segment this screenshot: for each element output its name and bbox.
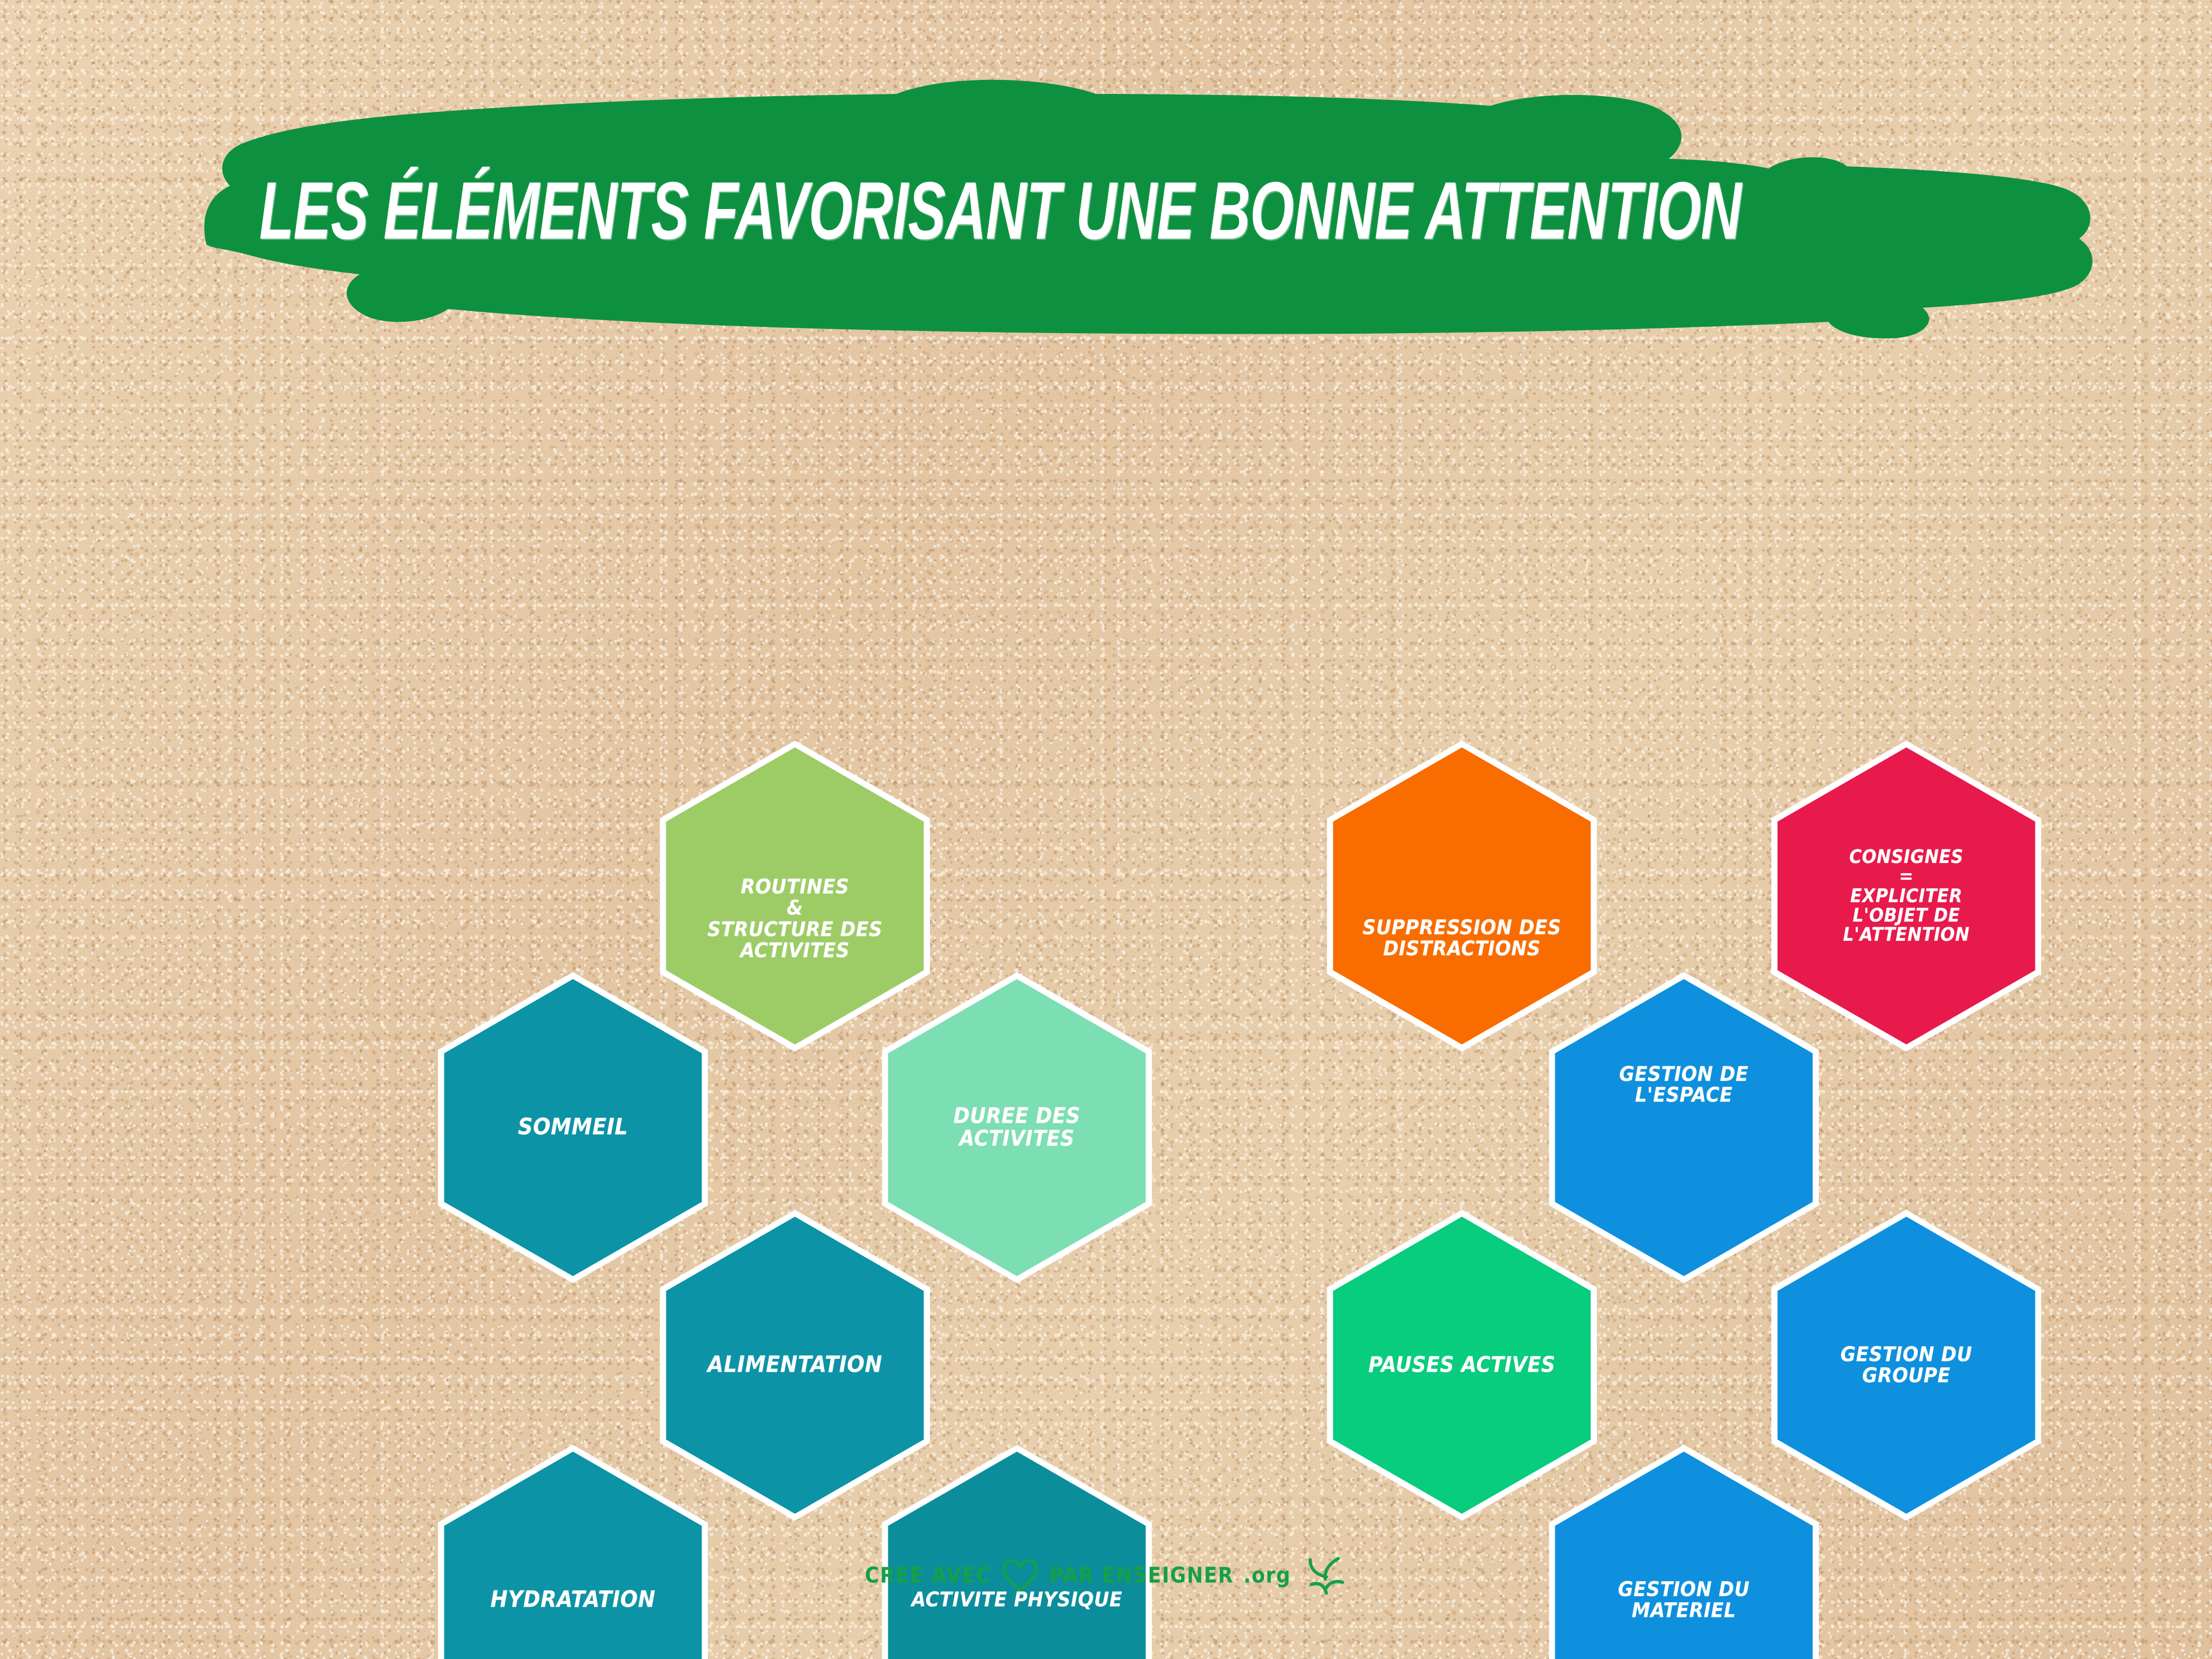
hex-cell-gestion-espace[interactable]: GESTION DE L'ESPACE [1549,972,1819,1283]
hex-label-gestion-groupe: GESTION DU GROUPE [1840,1344,1972,1387]
hex-fill-pauses-actives: PAUSES ACTIVES [1333,1217,1591,1514]
hex-label-suppression: SUPPRESSION DES DISTRACTIONS [1363,918,1561,960]
hex-cell-duree-activites[interactable]: DUREE DES ACTIVITES [882,972,1152,1283]
credit-created-with: CREE AVEC [865,1563,992,1588]
hex-cell-sommeil[interactable]: SOMMEIL [438,972,708,1283]
hex-fill-sommeil: SOMMEIL [444,979,702,1276]
hex-label-routines: ROUTINES & STRUCTURE DES ACTIVITES [707,877,882,962]
hex-label-alimentation: ALIMENTATION [707,1353,882,1377]
footer-credit: CREE AVEC PAR ENSEIGNER .org [0,1546,2212,1605]
hex-cell-gestion-groupe[interactable]: GESTION DU GROUPE [1771,1210,2041,1521]
hex-fill-alimentation: ALIMENTATION [666,1217,924,1514]
hex-label-gestion-espace: GESTION DE L'ESPACE [1620,1064,1749,1107]
hex-label-consignes: CONSIGNES = EXPLICITER L'OBJET DE L'ATTE… [1843,847,1969,945]
hex-cell-consignes[interactable]: CONSIGNES = EXPLICITER L'OBJET DE L'ATTE… [1771,740,2041,1051]
hex-fill-gestion-espace: GESTION DE L'ESPACE [1555,979,1813,1276]
hex-fill-routines: ROUTINES & STRUCTURE DES ACTIVITES [666,747,924,1044]
hex-cell-pauses-actives[interactable]: PAUSES ACTIVES [1327,1210,1597,1521]
heart-outline-icon [1001,1557,1040,1593]
hex-label-pauses-actives: PAUSES ACTIVES [1368,1354,1555,1377]
hex-fill-gestion-groupe: GESTION DU GROUPE [1777,1217,2035,1514]
hex-fill-suppression: SUPPRESSION DES DISTRACTIONS [1333,747,1591,1044]
hex-fill-consignes: CONSIGNES = EXPLICITER L'OBJET DE L'ATTE… [1777,747,2035,1044]
hex-label-sommeil: SOMMEIL [518,1116,628,1139]
credit-by: PAR ENSEIGNER [1049,1563,1233,1588]
hex-cell-routines[interactable]: ROUTINES & STRUCTURE DES ACTIVITES [660,740,930,1051]
sprout-leaf-icon [1300,1551,1347,1600]
hex-fill-duree-activites: DUREE DES ACTIVITES [888,979,1146,1276]
credit-domain: .org [1244,1563,1291,1588]
hex-label-duree-activites: DUREE DES ACTIVITES [954,1105,1081,1150]
page-title: LES ÉLÉMENTS FAVORISANT UNE BONNE ATTENT… [259,153,1411,268]
hex-cell-suppression[interactable]: SUPPRESSION DES DISTRACTIONS [1327,740,1597,1051]
hex-cell-alimentation[interactable]: ALIMENTATION [660,1210,930,1521]
